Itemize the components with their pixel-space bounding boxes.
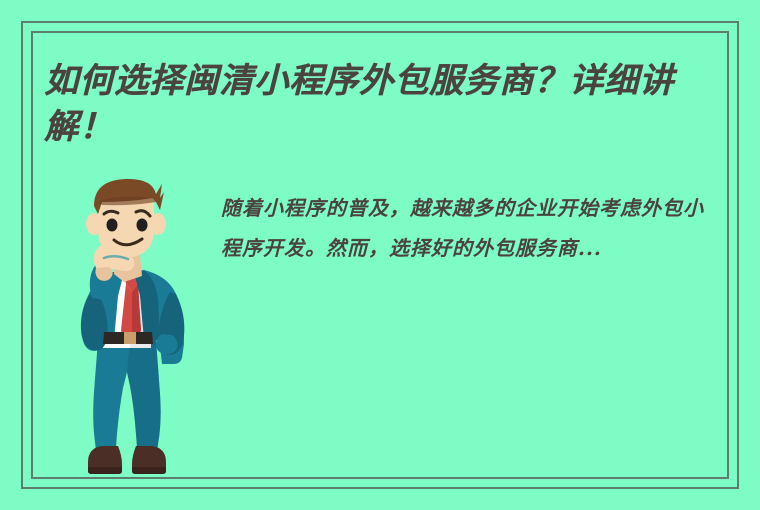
article-title: 如何选择闽清小程序外包服务商？详细讲解！ (44, 58, 720, 150)
shoe-left-sole (88, 467, 122, 474)
shoe-right-sole (132, 467, 166, 474)
hand-right-in-pocket (156, 334, 177, 354)
belt-buckle (124, 332, 136, 344)
eye-right (137, 219, 148, 232)
businessman-figure-icon (52, 172, 202, 482)
article-summary: 随着小程序的普及，越来越多的企业开始考虑外包小程序开发。然而，选择好的外包服务商… (221, 188, 721, 268)
article-card: 如何选择闽清小程序外包服务商？详细讲解！ (0, 0, 760, 510)
eye-left (107, 219, 118, 232)
trousers-shadow (127, 340, 161, 460)
illustration-thinking-businessman (52, 172, 202, 482)
